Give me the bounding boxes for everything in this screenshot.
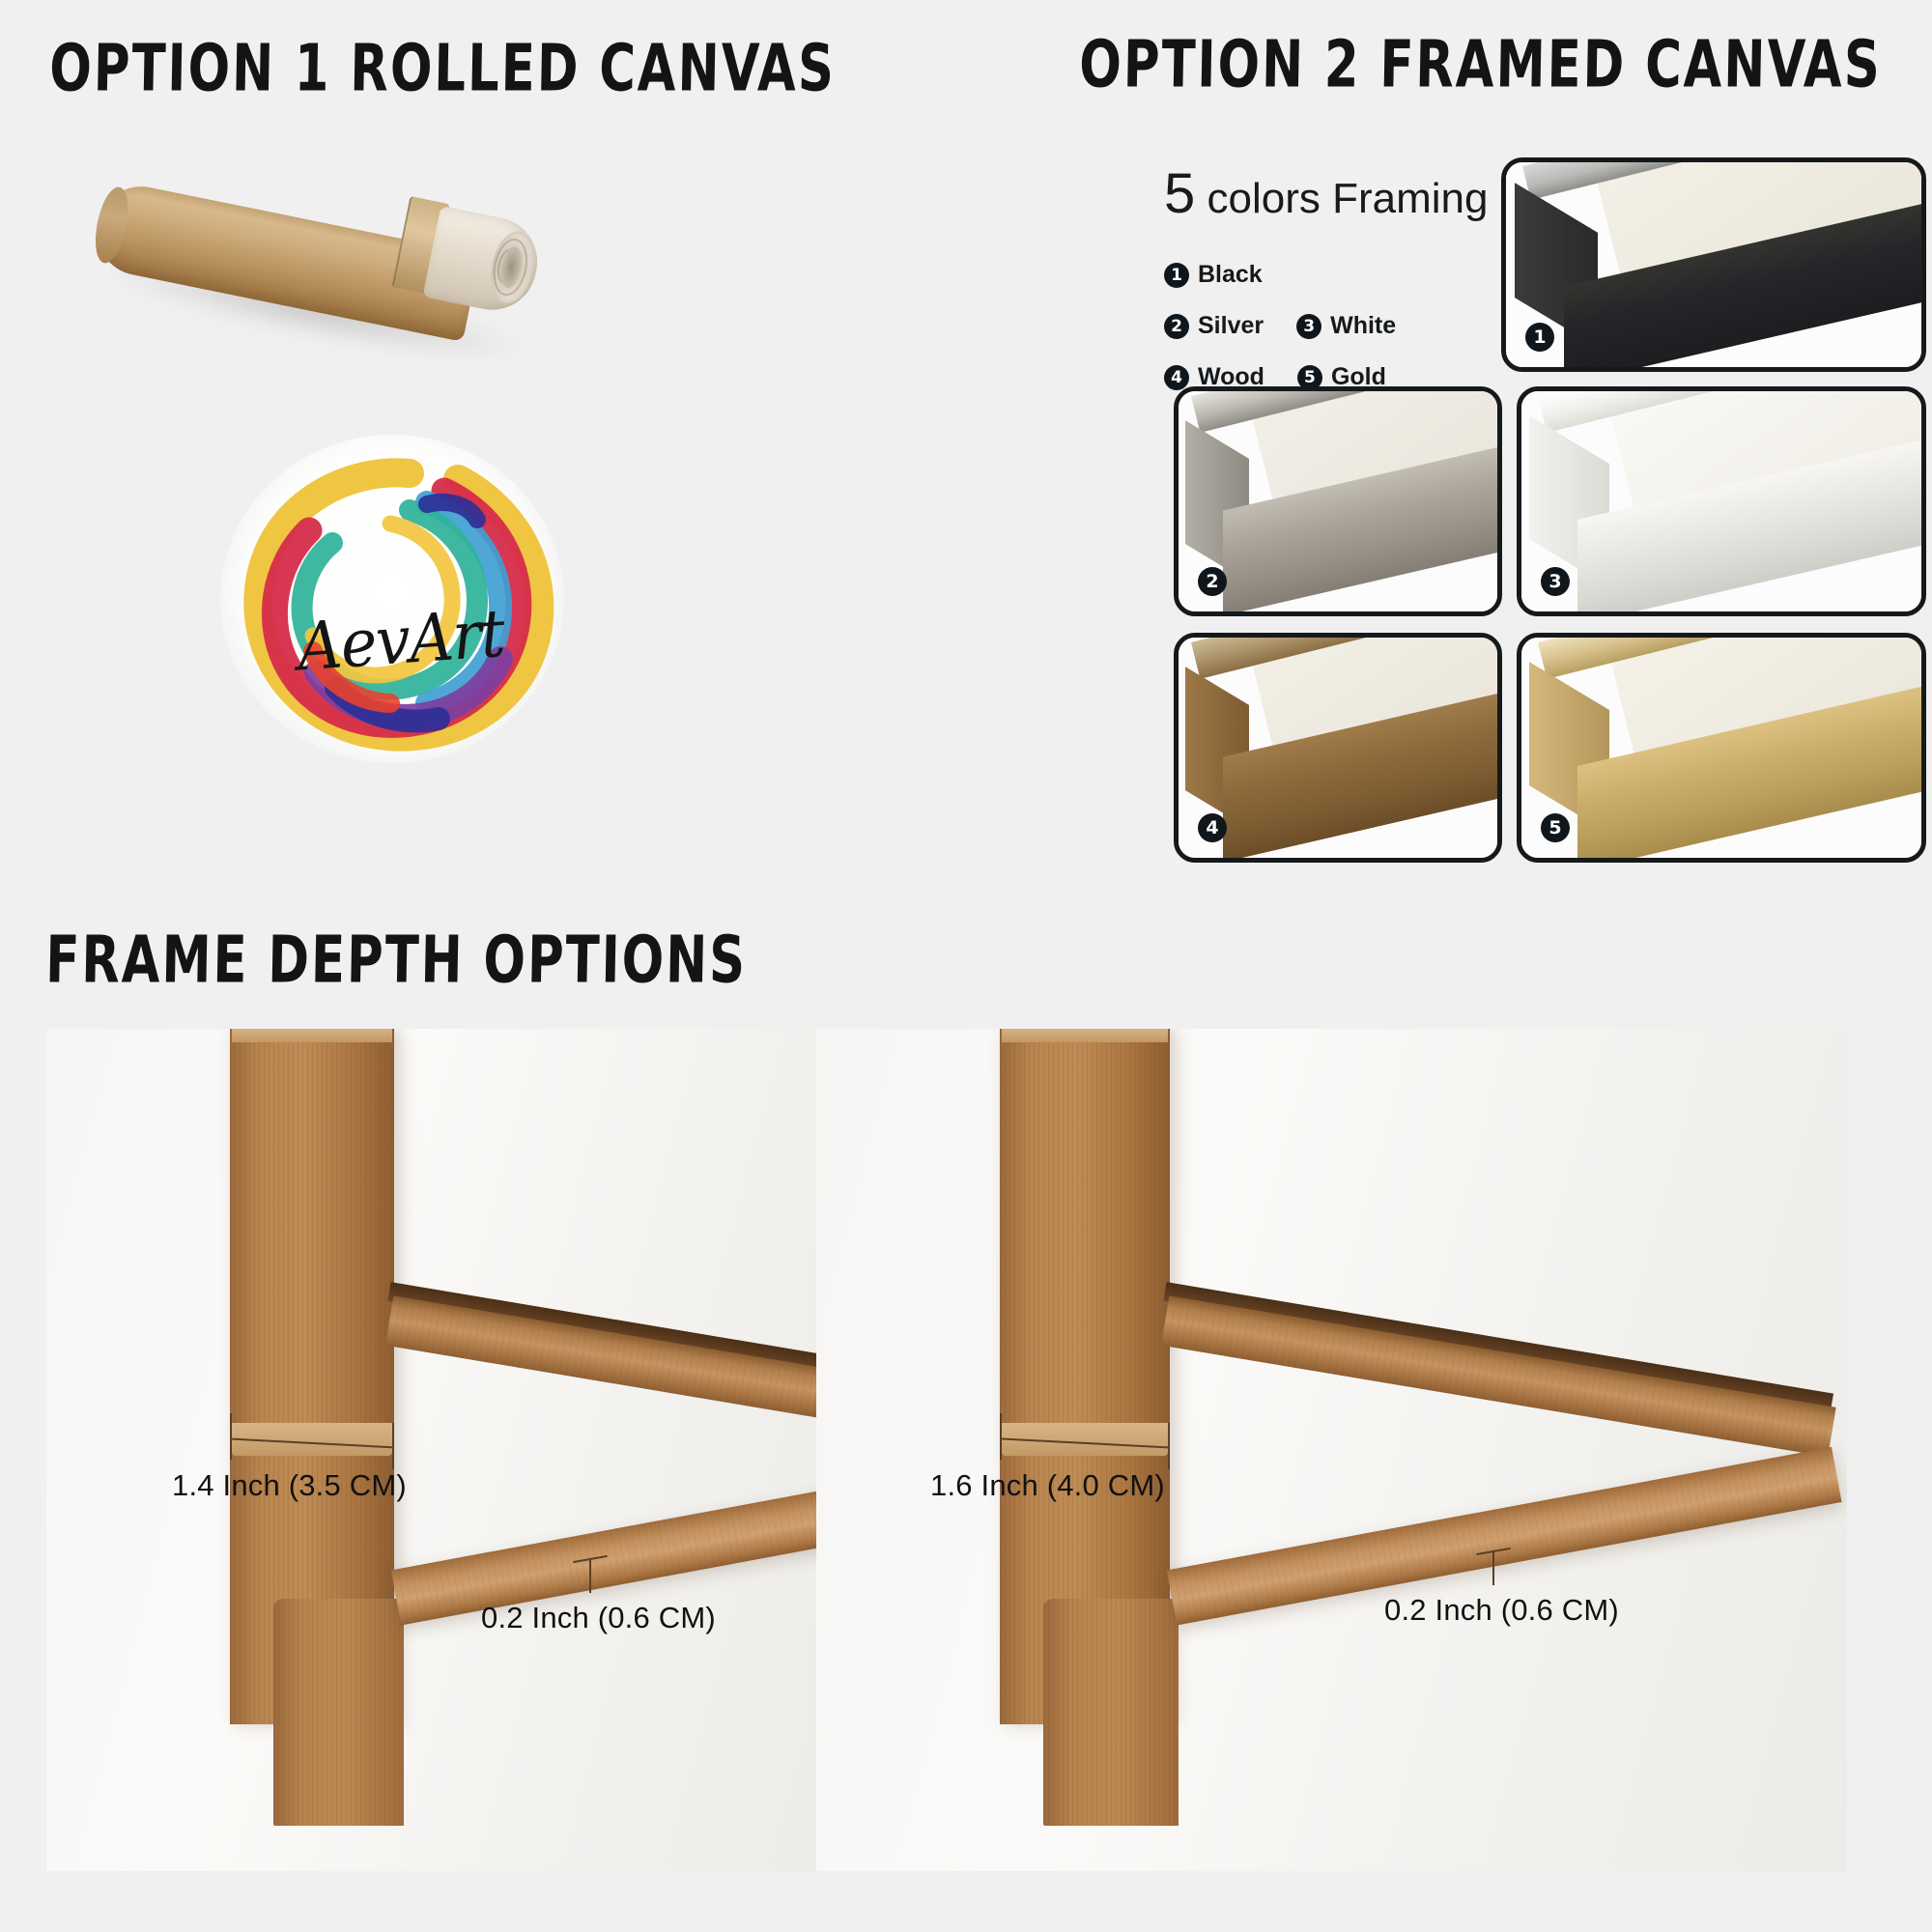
swatch-number-1: 1 [1525, 323, 1554, 352]
frame-depth-title: FRAME DEPTH OPTIONS [45, 923, 748, 998]
legend-row-1: 1 Black [1164, 261, 1454, 289]
depth-left-thickness-label: 0.2 Inch (0.6 CM) [481, 1601, 716, 1635]
framing-heading: 5 colors Framing [1164, 166, 1454, 222]
frame-corner-block [1043, 1599, 1179, 1826]
badge-3: 3 [1296, 314, 1321, 339]
frame-stile-top-edge [232, 1029, 392, 1042]
legend-item-silver: 2 Silver [1164, 312, 1264, 340]
frame-stile-top-edge [1002, 1029, 1168, 1042]
frame-swatch-white[interactable]: 3 [1517, 386, 1926, 616]
infographic-page: OPTION 1 ROLLED CANVAS [0, 0, 1932, 1932]
frame-swatch-silver[interactable]: 2 [1174, 386, 1502, 616]
legend-row-2: 2 Silver 3 White [1164, 312, 1454, 340]
framing-color-list: 1 Black 2 Silver 3 White 4 Wood [1164, 261, 1454, 391]
swatch-number-5: 5 [1541, 813, 1570, 842]
thickness-tick [1492, 1550, 1494, 1585]
frame-depth-photo-right: 1.6 Inch (4.0 CM) 0.2 Inch (0.6 CM) [816, 1029, 1847, 1871]
legend-label-white: White [1330, 312, 1396, 340]
frame-corner-photo-gold [1521, 638, 1921, 858]
badge-1: 1 [1164, 263, 1189, 288]
swatch-number-3: 3 [1541, 567, 1570, 596]
frame-corner-photo-white [1521, 391, 1921, 611]
depth-left-width-label: 1.4 Inch (3.5 CM) [172, 1468, 407, 1503]
rolled-canvas-tube-image [92, 145, 546, 367]
frame-depth-photo-left: 1.4 Inch (3.5 CM) 0.2 Inch (0.6 CM) [46, 1029, 863, 1871]
aevart-logo: AevArt [220, 435, 564, 763]
legend-label-black: Black [1198, 261, 1263, 289]
frame-swatch-black[interactable]: 1 [1501, 157, 1926, 372]
legend-item-black: 1 Black [1164, 261, 1263, 289]
legend-item-white: 3 White [1296, 312, 1396, 340]
frame-corner-block [273, 1599, 404, 1826]
depth-right-width-label: 1.6 Inch (4.0 CM) [930, 1468, 1165, 1503]
frame-swatch-gold[interactable]: 5 [1517, 633, 1926, 863]
badge-2: 2 [1164, 314, 1189, 339]
frame-swatch-wood[interactable]: 4 [1174, 633, 1502, 863]
depth-right-thickness-label: 0.2 Inch (0.6 CM) [1384, 1593, 1619, 1628]
frame-rail-upper [385, 1295, 863, 1435]
frame-corner-photo-black [1506, 162, 1921, 367]
thickness-tick [589, 1558, 591, 1593]
framing-count: 5 [1164, 162, 1195, 225]
option2-title: OPTION 2 FRAMED CANVAS [1079, 27, 1883, 102]
badge-4: 4 [1164, 365, 1189, 390]
framing-legend: 5 colors Framing 1 Black 2 Silver 3 Whit… [1164, 166, 1454, 414]
option1-title: OPTION 1 ROLLED CANVAS [49, 31, 837, 106]
swatch-number-4: 4 [1198, 813, 1227, 842]
swatch-number-2: 2 [1198, 567, 1227, 596]
dim-tick-left [230, 1413, 232, 1460]
framing-heading-rest: colors Framing [1195, 175, 1488, 222]
dim-tick-left [1000, 1413, 1002, 1460]
legend-label-silver: Silver [1198, 312, 1264, 340]
